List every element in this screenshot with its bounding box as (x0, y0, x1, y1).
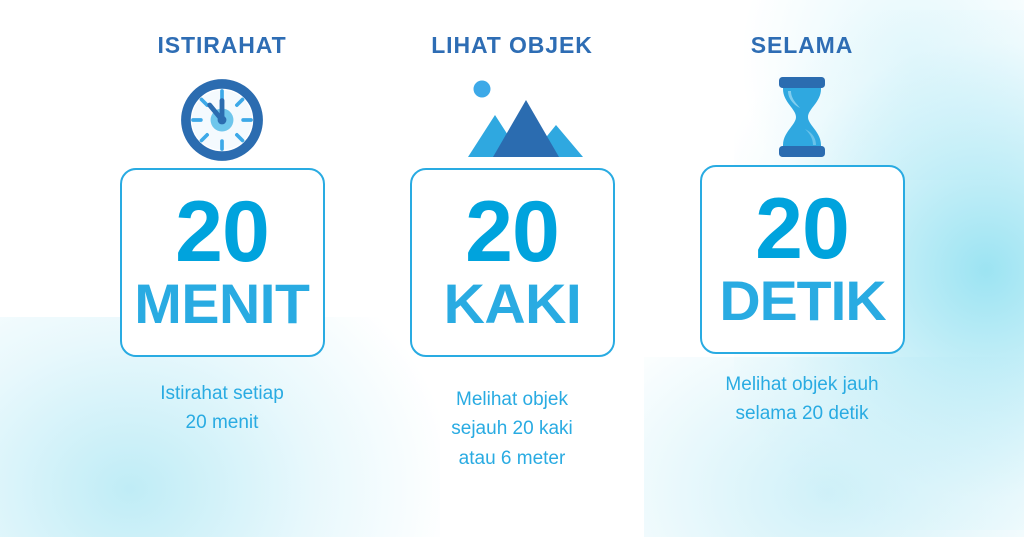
column-selama: SELAMA 20 DETIK Melihat objek jauh selam… (657, 34, 947, 429)
metric-unit: KAKI (443, 277, 581, 330)
column-caption-selama: Melihat objek jauh selama 20 detik (725, 370, 878, 429)
column-lihat-objek: LIHAT OBJEK 20 KAKI Melihat objek sejauh… (367, 34, 657, 473)
metric-unit: DETIK (719, 274, 885, 327)
metric-unit: MENIT (134, 277, 309, 330)
column-istirahat: ISTIRAHAT (77, 34, 367, 438)
metric-number: 20 (755, 194, 849, 265)
metric-number: 20 (465, 197, 559, 268)
column-caption-istirahat: Istirahat setiap 20 menit (160, 379, 284, 438)
infographic-poster: ISTIRAHAT (0, 0, 1024, 537)
clock-icon (178, 72, 266, 168)
metric-number: 20 (175, 197, 269, 268)
metric-card-detik: 20 DETIK (700, 165, 905, 354)
hourglass-icon (772, 69, 832, 165)
metric-card-kaki: 20 KAKI (410, 168, 615, 357)
column-heading-selama: SELAMA (751, 34, 854, 57)
column-heading-lihat-objek: LIHAT OBJEK (431, 34, 593, 57)
column-caption-lihat-objek: Melihat objek sejauh 20 kaki atau 6 mete… (451, 385, 572, 473)
column-heading-istirahat: ISTIRAHAT (157, 34, 286, 57)
mountains-icon (437, 72, 587, 168)
metric-card-menit: 20 MENIT (120, 168, 325, 357)
columns-container: ISTIRAHAT (0, 0, 1024, 473)
